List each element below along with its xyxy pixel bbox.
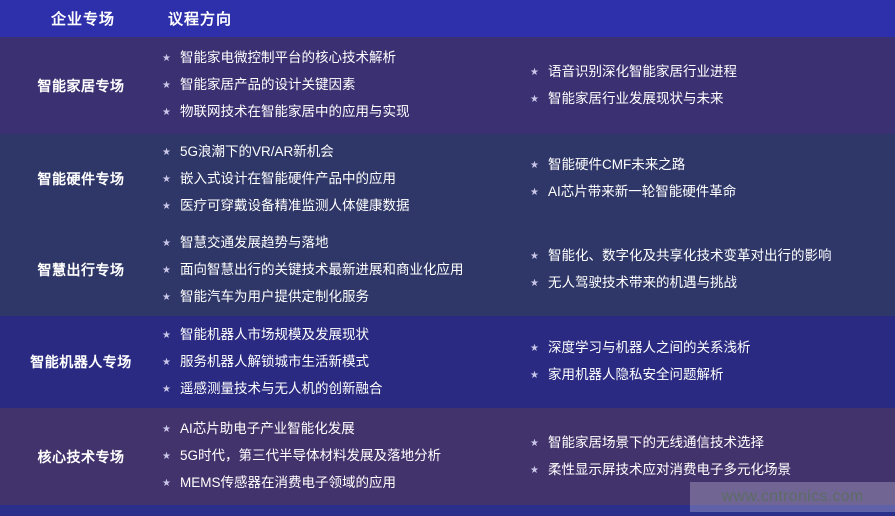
topic-text: 智慧交通发展趋势与落地 xyxy=(180,234,329,251)
topic-text: AI芯片助电子产业智能化发展 xyxy=(180,420,355,437)
topic-text: 智能家居产品的设计关键因素 xyxy=(180,76,356,93)
topic-text: 智能汽车为用户提供定制化服务 xyxy=(180,288,369,305)
star-icon: ★ xyxy=(530,157,539,174)
topic-item: ★物联网技术在智能家居中的应用与实现 xyxy=(162,103,522,122)
topic-text: AI芯片带来新一轮智能硬件革命 xyxy=(548,183,736,200)
topic-item: ★智慧交通发展趋势与落地 xyxy=(162,234,522,253)
topic-text: 智能化、数字化及共享化技术变革对出行的影响 xyxy=(548,247,832,264)
topic-column-left: ★智慧交通发展趋势与落地★面向智慧出行的关键技术最新进展和商业化应用★智能汽车为… xyxy=(162,234,522,307)
star-icon: ★ xyxy=(530,435,539,452)
table-row: 智能机器人专场★智能机器人市场规模及发展现状★服务机器人解锁城市生活新模式★遥感… xyxy=(0,316,895,408)
topic-column-right: ★智能家居场景下的无线通信技术选择★柔性显示屏技术应对消费电子多元化场景 xyxy=(522,434,889,480)
topic-text: 医疗可穿戴设备精准监测人体健康数据 xyxy=(180,197,410,214)
topic-column-right: ★智能化、数字化及共享化技术变革对出行的影响★无人驾驶技术带来的机遇与挑战 xyxy=(522,247,889,293)
topic-text: 5G时代，第三代半导体材料发展及落地分析 xyxy=(180,447,441,464)
topic-item: ★智能家居行业发展现状与未来 xyxy=(530,90,889,109)
star-icon: ★ xyxy=(530,184,539,201)
topic-column-left: ★AI芯片助电子产业智能化发展★5G时代，第三代半导体材料发展及落地分析★MEM… xyxy=(162,420,522,493)
star-icon: ★ xyxy=(162,171,171,188)
topic-column-left: ★智能机器人市场规模及发展现状★服务机器人解锁城市生活新模式★遥感测量技术与无人… xyxy=(162,326,522,399)
row-category-label: 智能家居专场 xyxy=(0,37,162,134)
star-icon: ★ xyxy=(530,275,539,292)
star-icon: ★ xyxy=(162,144,171,161)
star-icon: ★ xyxy=(162,327,171,344)
star-icon: ★ xyxy=(162,198,171,215)
star-icon: ★ xyxy=(162,421,171,438)
star-icon: ★ xyxy=(162,381,171,398)
topic-item: ★AI芯片带来新一轮智能硬件革命 xyxy=(530,183,889,202)
topic-item: ★智能家居产品的设计关键因素 xyxy=(162,76,522,95)
topic-text: 服务机器人解锁城市生活新模式 xyxy=(180,353,369,370)
topic-item: ★5G浪潮下的VR/AR新机会 xyxy=(162,143,522,162)
star-icon: ★ xyxy=(162,50,171,67)
row-topics: ★智能家电微控制平台的核心技术解析★智能家居产品的设计关键因素★物联网技术在智能… xyxy=(162,37,895,134)
topic-text: 物联网技术在智能家居中的应用与实现 xyxy=(180,103,410,120)
topic-item: ★5G时代，第三代半导体材料发展及落地分析 xyxy=(162,447,522,466)
star-icon: ★ xyxy=(162,475,171,492)
topic-item: ★家用机器人隐私安全问题解析 xyxy=(530,366,889,385)
topic-item: ★智能家居场景下的无线通信技术选择 xyxy=(530,434,889,453)
topic-item: ★AI芯片助电子产业智能化发展 xyxy=(162,420,522,439)
star-icon: ★ xyxy=(530,64,539,81)
table-row: 智能硬件专场★5G浪潮下的VR/AR新机会★嵌入式设计在智能硬件产品中的应用★医… xyxy=(0,134,895,224)
star-icon: ★ xyxy=(530,248,539,265)
header-col-agenda: 议程方向 xyxy=(168,8,232,29)
table-row: 核心技术专场★AI芯片助电子产业智能化发展★5G时代，第三代半导体材料发展及落地… xyxy=(0,408,895,505)
table-row: 智慧出行专场★智慧交通发展趋势与落地★面向智慧出行的关键技术最新进展和商业化应用… xyxy=(0,224,895,316)
topic-text: 家用机器人隐私安全问题解析 xyxy=(548,366,724,383)
row-category-label: 智能机器人专场 xyxy=(0,316,162,408)
row-topics: ★AI芯片助电子产业智能化发展★5G时代，第三代半导体材料发展及落地分析★MEM… xyxy=(162,408,895,505)
topic-text: 无人驾驶技术带来的机遇与挑战 xyxy=(548,274,737,291)
star-icon: ★ xyxy=(530,340,539,357)
topic-column-left: ★智能家电微控制平台的核心技术解析★智能家居产品的设计关键因素★物联网技术在智能… xyxy=(162,49,522,122)
topic-text: 柔性显示屏技术应对消费电子多元化场景 xyxy=(548,461,791,478)
star-icon: ★ xyxy=(162,235,171,252)
topic-item: ★嵌入式设计在智能硬件产品中的应用 xyxy=(162,170,522,189)
topic-column-left: ★5G浪潮下的VR/AR新机会★嵌入式设计在智能硬件产品中的应用★医疗可穿戴设备… xyxy=(162,143,522,216)
star-icon: ★ xyxy=(530,91,539,108)
table-header: 企业专场 议程方向 xyxy=(0,0,895,37)
topic-text: MEMS传感器在消费电子领域的应用 xyxy=(180,474,396,491)
row-category-label: 智能硬件专场 xyxy=(0,134,162,224)
star-icon: ★ xyxy=(162,104,171,121)
footer-strip xyxy=(0,505,895,516)
topic-item: ★柔性显示屏技术应对消费电子多元化场景 xyxy=(530,461,889,480)
table-row: 智能家居专场★智能家电微控制平台的核心技术解析★智能家居产品的设计关键因素★物联… xyxy=(0,37,895,134)
topic-text: 智能家居行业发展现状与未来 xyxy=(548,90,724,107)
topic-item: ★智能硬件CMF未来之路 xyxy=(530,156,889,175)
topic-text: 语音识别深化智能家居行业进程 xyxy=(548,63,737,80)
star-icon: ★ xyxy=(162,289,171,306)
star-icon: ★ xyxy=(530,367,539,384)
star-icon: ★ xyxy=(162,262,171,279)
topic-text: 嵌入式设计在智能硬件产品中的应用 xyxy=(180,170,396,187)
topic-text: 面向智慧出行的关键技术最新进展和商业化应用 xyxy=(180,261,464,278)
star-icon: ★ xyxy=(162,448,171,465)
topic-item: ★医疗可穿戴设备精准监测人体健康数据 xyxy=(162,197,522,216)
topic-text: 智能家电微控制平台的核心技术解析 xyxy=(180,49,396,66)
topic-item: ★智能化、数字化及共享化技术变革对出行的影响 xyxy=(530,247,889,266)
topic-column-right: ★智能硬件CMF未来之路★AI芯片带来新一轮智能硬件革命 xyxy=(522,156,889,202)
topic-item: ★MEMS传感器在消费电子领域的应用 xyxy=(162,474,522,493)
topic-item: ★深度学习与机器人之间的关系浅析 xyxy=(530,339,889,358)
topic-item: ★无人驾驶技术带来的机遇与挑战 xyxy=(530,274,889,293)
star-icon: ★ xyxy=(530,462,539,479)
topic-text: 深度学习与机器人之间的关系浅析 xyxy=(548,339,751,356)
agenda-table: 企业专场 议程方向 智能家居专场★智能家电微控制平台的核心技术解析★智能家居产品… xyxy=(0,0,895,516)
star-icon: ★ xyxy=(162,354,171,371)
topic-column-right: ★语音识别深化智能家居行业进程★智能家居行业发展现状与未来 xyxy=(522,63,889,109)
topic-text: 智能家居场景下的无线通信技术选择 xyxy=(548,434,764,451)
topic-item: ★智能汽车为用户提供定制化服务 xyxy=(162,288,522,307)
row-topics: ★智慧交通发展趋势与落地★面向智慧出行的关键技术最新进展和商业化应用★智能汽车为… xyxy=(162,224,895,316)
topic-text: 遥感测量技术与无人机的创新融合 xyxy=(180,380,383,397)
topic-item: ★遥感测量技术与无人机的创新融合 xyxy=(162,380,522,399)
topic-item: ★智能家电微控制平台的核心技术解析 xyxy=(162,49,522,68)
topic-item: ★智能机器人市场规模及发展现状 xyxy=(162,326,522,345)
header-col-company: 企业专场 xyxy=(51,8,115,29)
star-icon: ★ xyxy=(162,77,171,94)
topic-text: 智能硬件CMF未来之路 xyxy=(548,156,685,173)
table-body: 智能家居专场★智能家电微控制平台的核心技术解析★智能家居产品的设计关键因素★物联… xyxy=(0,37,895,505)
topic-text: 5G浪潮下的VR/AR新机会 xyxy=(180,143,334,160)
row-category-label: 智慧出行专场 xyxy=(0,224,162,316)
row-topics: ★智能机器人市场规模及发展现状★服务机器人解锁城市生活新模式★遥感测量技术与无人… xyxy=(162,316,895,408)
row-category-label: 核心技术专场 xyxy=(0,408,162,505)
topic-text: 智能机器人市场规模及发展现状 xyxy=(180,326,369,343)
topic-column-right: ★深度学习与机器人之间的关系浅析★家用机器人隐私安全问题解析 xyxy=(522,339,889,385)
topic-item: ★面向智慧出行的关键技术最新进展和商业化应用 xyxy=(162,261,522,280)
row-topics: ★5G浪潮下的VR/AR新机会★嵌入式设计在智能硬件产品中的应用★医疗可穿戴设备… xyxy=(162,134,895,224)
topic-item: ★语音识别深化智能家居行业进程 xyxy=(530,63,889,82)
topic-item: ★服务机器人解锁城市生活新模式 xyxy=(162,353,522,372)
